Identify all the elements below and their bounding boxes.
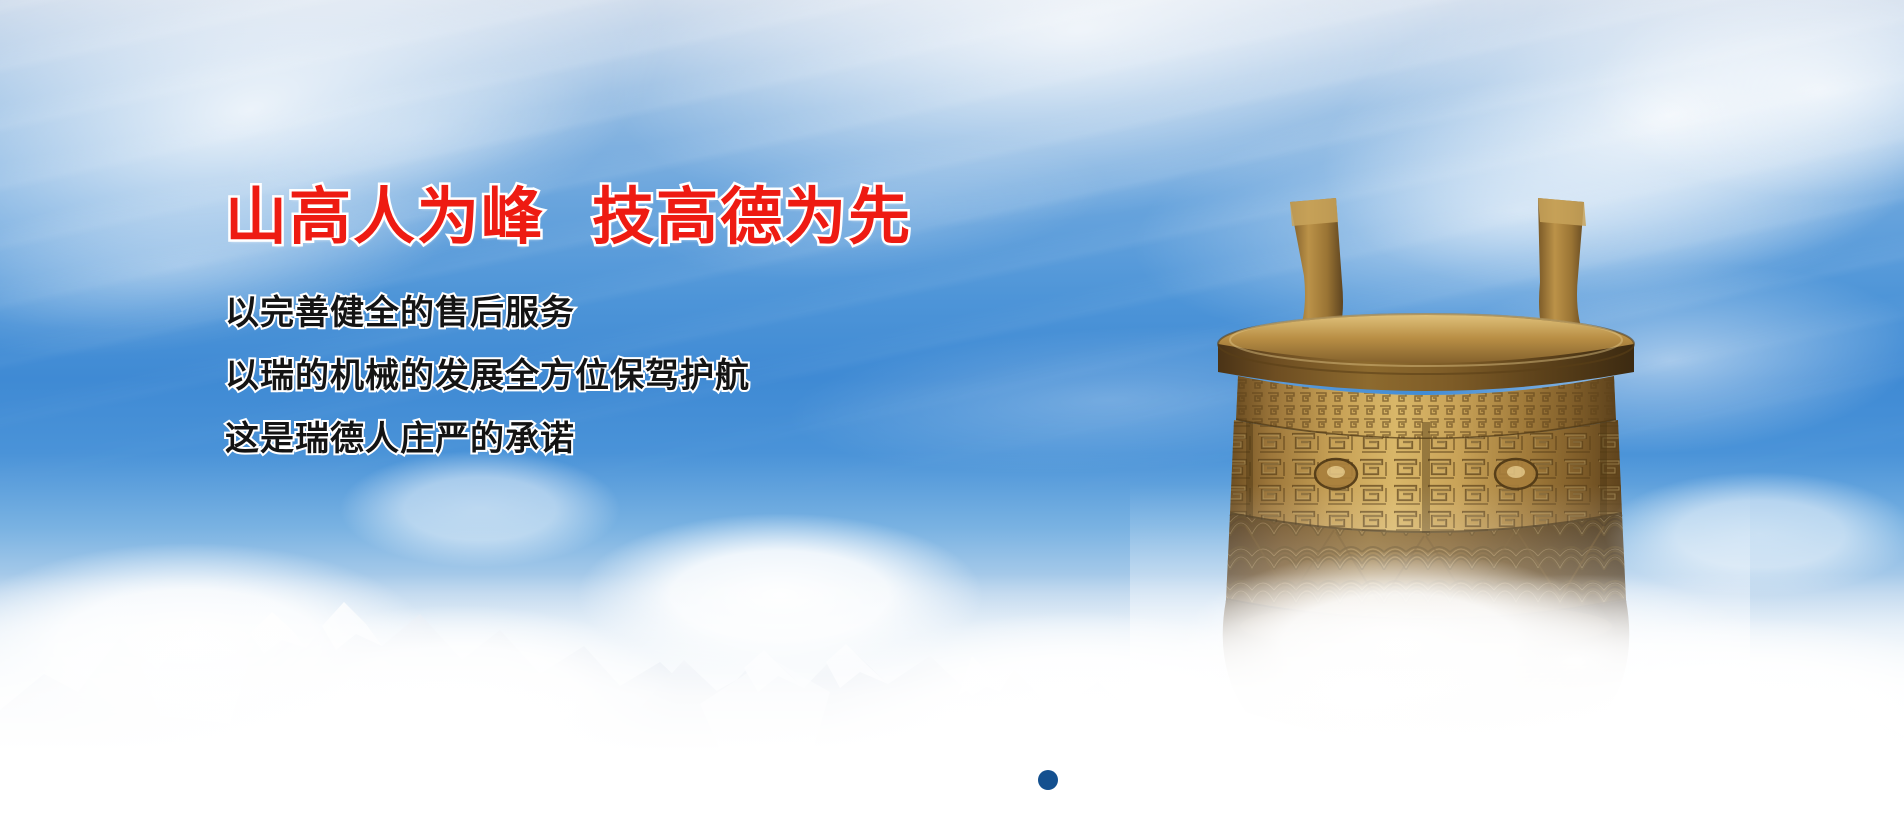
banner-subtitle-line: 这是瑞德人庄严的承诺 [225, 422, 1165, 456]
ding-legs [1248, 688, 1594, 824]
banner-subtitle-line: 以完善健全的售后服务 [225, 296, 1165, 330]
carousel-dot-2[interactable] [894, 770, 914, 790]
banner-headline: 山高人为峰 技高德为先 [225, 186, 1165, 248]
carousel-dot-3[interactable] [942, 770, 962, 790]
carousel-dot-5[interactable] [1038, 770, 1058, 790]
carousel-dot-1[interactable] [846, 770, 866, 790]
banner-subtitle-list: 以完善健全的售后服务 以瑞的机械的发展全方位保驾护航 这是瑞德人庄严的承诺 [225, 296, 1165, 456]
carousel-pagination [0, 770, 1904, 790]
carousel-dot-4[interactable] [990, 770, 1010, 790]
bronze-ding-illustration [1186, 196, 1666, 824]
hero-banner: 山高人为峰 技高德为先 以完善健全的售后服务 以瑞的机械的发展全方位保驾护航 这… [0, 0, 1904, 824]
banner-copy: 山高人为峰 技高德为先 以完善健全的售后服务 以瑞的机械的发展全方位保驾护航 这… [225, 186, 1165, 456]
banner-subtitle-line: 以瑞的机械的发展全方位保驾护航 [225, 359, 1165, 393]
